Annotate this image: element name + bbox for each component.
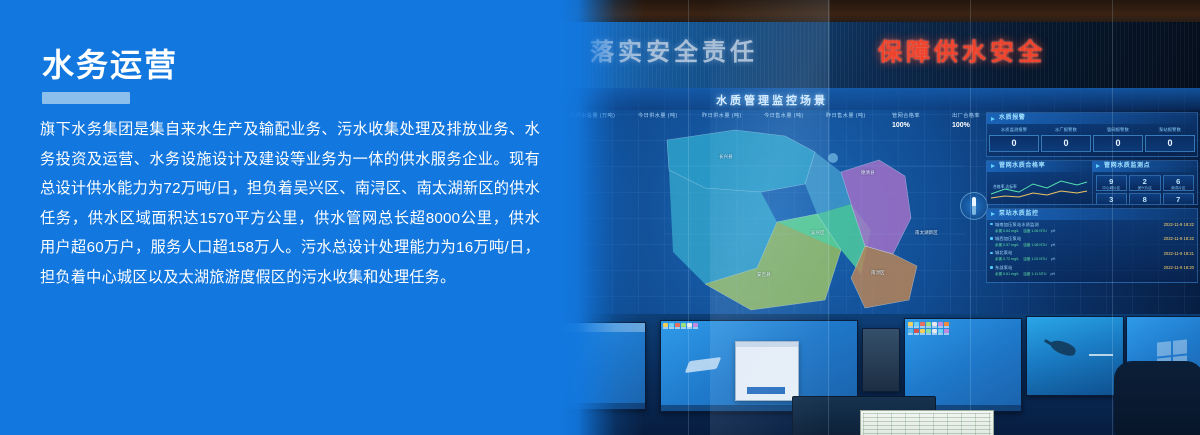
hero-banner: 落实安全责任 保障供水安全 水质管理监控场景 年供水总量 (万吨) 今日供水量 … bbox=[0, 0, 1200, 435]
dialog-primary-button[interactable] bbox=[747, 387, 785, 394]
alarm-cell[interactable]: 水质监测报警 0 bbox=[989, 127, 1039, 152]
desktop-icon[interactable] bbox=[926, 329, 931, 335]
wallpaper-caption-bar bbox=[1089, 354, 1113, 356]
map-label: 安吉县 bbox=[757, 272, 771, 278]
log-name: 城南加压泵站水质监测 bbox=[990, 222, 1039, 228]
log-time: 2022-11-9 18:21 bbox=[1164, 251, 1194, 256]
log-value-2: 浊度 1.06 NTU bbox=[1023, 229, 1047, 234]
grid-cell[interactable]: 7安吉片区 bbox=[1163, 193, 1195, 204]
alarm-cell[interactable]: 水厂报警数 0 bbox=[1041, 127, 1091, 152]
map-label: 南浔区 bbox=[871, 270, 885, 276]
log-name: 东部泵站 bbox=[990, 265, 1013, 271]
desktop-icon[interactable] bbox=[663, 323, 668, 329]
desktop-icon[interactable] bbox=[669, 323, 674, 329]
log-value-3: pH bbox=[1051, 257, 1056, 262]
desktop-icon[interactable] bbox=[914, 322, 919, 328]
log-value-2: 浊度 1.08 NTU bbox=[1023, 243, 1047, 248]
desktop-icon[interactable] bbox=[681, 323, 686, 329]
desktop-icon[interactable] bbox=[938, 329, 943, 335]
log-row-top: 城南加压泵站水质监测 2022-11-9 18:22 bbox=[990, 222, 1194, 228]
log-value-3: pH bbox=[1051, 229, 1056, 234]
led-slogan-left: 落实安全责任 bbox=[590, 41, 758, 65]
map-label: 德清县 bbox=[861, 170, 875, 176]
control-room-photo: 落实安全责任 保障供水安全 水质管理监控场景 年供水总量 (万吨) 今日供水量 … bbox=[520, 0, 1200, 435]
desktop-icon[interactable] bbox=[914, 329, 919, 335]
desktop-icon[interactable] bbox=[944, 329, 949, 335]
alarm-cells: 水质监测报警 0 水厂报警数 0 管网报警数 0 bbox=[987, 124, 1197, 156]
number-grid: 9中心城片区 2吴兴片区 6南浔片区 3德清片区 8长兴片区 7安吉片区 bbox=[1093, 172, 1198, 204]
log-value-2: 浊度 1.02 NTU bbox=[1023, 257, 1047, 262]
grid-value: 7 bbox=[1164, 195, 1194, 204]
log-row[interactable]: 城北泵站 2022-11-9 18:21 余氯 0.72 mg/L 浊度 1.0… bbox=[990, 250, 1194, 262]
glass-seam bbox=[1112, 0, 1113, 435]
desktop-icon[interactable] bbox=[908, 322, 913, 328]
log-values: 余氯 0.57 mg/L 浊度 1.08 NTU pH bbox=[990, 243, 1194, 248]
log-values: 余氯 0.64 mg/L 浊度 1.06 NTU pH bbox=[990, 229, 1194, 234]
panel-water-quality-alarm[interactable]: 水质报警 水质监测报警 0 水厂报警数 0 管网报警数 bbox=[986, 112, 1198, 157]
map-label: 长兴县 bbox=[719, 154, 733, 160]
grid-label: 吴兴片区 bbox=[1130, 186, 1160, 190]
desktop-icon[interactable] bbox=[675, 323, 680, 329]
region-map: 德清县 吴兴区 南浔区 安吉县 长兴县 南太湖新区 bbox=[665, 118, 965, 314]
intro-paragraph: 旗下水务集团是集自来水生产及输配业务、污水收集处理及排放业务、水务投资及运营、水… bbox=[40, 115, 540, 292]
desktop-icon[interactable] bbox=[926, 322, 931, 328]
region-map-svg bbox=[665, 118, 965, 314]
desktop-icon[interactable] bbox=[920, 322, 925, 328]
log-value-3: pH bbox=[1051, 243, 1056, 248]
alarm-value: 0 bbox=[1145, 135, 1195, 152]
log-row[interactable]: 东部泵站 2022-11-9 18:20 余氯 0.61 mg/L 浊度 1.1… bbox=[990, 265, 1194, 277]
title-underline-rule bbox=[42, 92, 130, 104]
operator-chair bbox=[1114, 361, 1200, 435]
panel-heading: 水质报警 bbox=[987, 113, 1197, 124]
log-value-1: 余氯 0.57 mg/L bbox=[995, 243, 1019, 248]
monitor-diver-screen bbox=[1027, 317, 1123, 395]
dashboard-title: 水质管理监控场景 bbox=[672, 92, 872, 108]
panel-split-bodies: 合格率 达标率 9中心城片区 2吴兴片区 6南浔片区 3德清片区 8长兴片区 7… bbox=[987, 172, 1197, 204]
grid-label: 南浔片区 bbox=[1164, 186, 1194, 190]
dialog-title-bar bbox=[736, 342, 798, 347]
log-time: 2022-11-9 18:20 bbox=[1164, 265, 1194, 270]
page-title: 水务运营 bbox=[42, 48, 178, 83]
modal-dialog[interactable] bbox=[735, 341, 799, 401]
log-row[interactable]: 城西加压泵站 2022-11-9 18:22 余氯 0.57 mg/L 浊度 1… bbox=[990, 236, 1194, 248]
monitor-point-grid: 9中心城片区 2吴兴片区 6南浔片区 3德清片区 8长兴片区 7安吉片区 bbox=[1093, 172, 1198, 204]
log-value-1: 余氯 0.64 mg/L bbox=[995, 229, 1019, 234]
panel-split-heads: 管网水质合格率 管网水质监测点 bbox=[987, 161, 1197, 172]
panel-heading: 泵站水质监控 bbox=[987, 209, 1197, 220]
map-label: 吴兴区 bbox=[811, 230, 825, 236]
log-values: 余氯 0.61 mg/L 浊度 1.11 NTU pH bbox=[990, 272, 1194, 277]
desktop-icon[interactable] bbox=[932, 329, 937, 335]
compass-icon bbox=[960, 192, 988, 220]
alarm-value: 0 bbox=[1093, 135, 1143, 152]
printed-sheet bbox=[860, 410, 994, 435]
grid-cell[interactable]: 8长兴片区 bbox=[1129, 193, 1161, 204]
diver-figure-icon bbox=[1049, 338, 1077, 357]
alarm-caption: 泵站报警数 bbox=[1145, 127, 1195, 133]
log-row-top: 城北泵站 2022-11-9 18:21 bbox=[990, 250, 1194, 256]
desktop-icons bbox=[908, 322, 949, 335]
alarm-value: 0 bbox=[989, 135, 1039, 152]
log-value-1: 余氯 0.61 mg/L bbox=[995, 272, 1019, 277]
log-list: 城南加压泵站水质监测 2022-11-9 18:22 余氯 0.64 mg/L … bbox=[987, 220, 1197, 283]
desktop-icon[interactable] bbox=[908, 329, 913, 335]
quality-rate-chart[interactable]: 合格率 达标率 bbox=[987, 172, 1093, 204]
glass-seam bbox=[970, 0, 971, 435]
photo-content: 落实安全责任 保障供水安全 水质管理监控场景 年供水总量 (万吨) 今日供水量 … bbox=[560, 0, 1200, 435]
alarm-cell[interactable]: 泵站报警数 0 bbox=[1145, 127, 1195, 152]
panel-heading-right: 管网水质监测点 bbox=[1092, 161, 1197, 172]
desktop-icons bbox=[663, 323, 698, 329]
alarm-caption: 水厂报警数 bbox=[1041, 127, 1091, 133]
log-value-3: pH bbox=[1050, 272, 1055, 277]
alarm-caption: 管网报警数 bbox=[1093, 127, 1143, 133]
log-value-1: 余氯 0.72 mg/L bbox=[995, 257, 1019, 262]
wallpaper-swoosh-icon bbox=[685, 357, 722, 373]
log-time: 2022-11-9 18:22 bbox=[1164, 236, 1194, 241]
alarm-value: 0 bbox=[1041, 135, 1091, 152]
intro-text-block: 水务运营 旗下水务集团是集自来水生产及输配业务、污水收集处理及排放业务、水务投资… bbox=[0, 0, 600, 435]
log-row-top: 城西加压泵站 2022-11-9 18:22 bbox=[990, 236, 1194, 242]
dashboard-header-bar bbox=[560, 88, 1200, 110]
grid-cell[interactable]: 2吴兴片区 bbox=[1129, 175, 1161, 191]
glass-seam bbox=[688, 0, 689, 435]
log-values: 余氯 0.72 mg/L 浊度 1.02 NTU pH bbox=[990, 257, 1194, 262]
alarm-caption: 水质监测报警 bbox=[989, 127, 1039, 133]
grid-value: 8 bbox=[1130, 195, 1160, 204]
led-banner-wall: 落实安全责任 保障供水安全 bbox=[560, 22, 1200, 90]
grid-value: 2 bbox=[1130, 177, 1160, 186]
operator-desk bbox=[560, 314, 1200, 435]
map-pulse-marker bbox=[828, 153, 838, 163]
log-time: 2022-11-9 18:22 bbox=[1164, 222, 1194, 227]
log-row-top: 东部泵站 2022-11-9 18:20 bbox=[990, 265, 1194, 271]
desktop-icon[interactable] bbox=[944, 322, 949, 328]
monitor-narrow bbox=[862, 328, 900, 392]
monitor-diver bbox=[1026, 316, 1124, 396]
led-slogan-right: 保障供水安全 bbox=[878, 41, 1046, 65]
monitor-narrow-screen bbox=[863, 329, 899, 391]
desktop-icon[interactable] bbox=[938, 322, 943, 328]
log-row[interactable]: 城南加压泵站水质监测 2022-11-9 18:22 余氯 0.64 mg/L … bbox=[990, 222, 1194, 234]
desktop-icon[interactable] bbox=[693, 323, 698, 329]
dashboard-screen: 水质管理监控场景 年供水总量 (万吨) 今日供水量 (吨) 昨日供水量 (吨) … bbox=[560, 88, 1200, 316]
panel-pump-station-log[interactable]: 泵站水质监控 城南加压泵站水质监测 2022-11-9 18:22 余氯 0.6… bbox=[986, 208, 1198, 284]
log-name: 城西加压泵站 bbox=[990, 236, 1021, 242]
log-name: 城北泵站 bbox=[990, 250, 1013, 256]
chart-legend: 合格率 达标率 bbox=[993, 185, 1017, 190]
glass-seam bbox=[828, 0, 829, 435]
desktop-icon[interactable] bbox=[920, 329, 925, 335]
desktop-icon[interactable] bbox=[932, 322, 937, 328]
map-label: 南太湖新区 bbox=[915, 230, 938, 236]
panel-heading-left: 管网水质合格率 bbox=[987, 161, 1092, 172]
grid-value: 6 bbox=[1164, 177, 1194, 186]
grid-cell[interactable]: 6南浔片区 bbox=[1163, 175, 1195, 191]
log-value-2: 浊度 1.11 NTU bbox=[1023, 272, 1046, 277]
dashboard-right-panels: 水质报警 水质监测报警 0 水厂报警数 0 管网报警数 bbox=[986, 112, 1198, 286]
panel-pipeline-quality[interactable]: 管网水质合格率 管网水质监测点 合格率 达标率 bbox=[986, 160, 1198, 205]
alarm-cell[interactable]: 管网报警数 0 bbox=[1093, 127, 1143, 152]
